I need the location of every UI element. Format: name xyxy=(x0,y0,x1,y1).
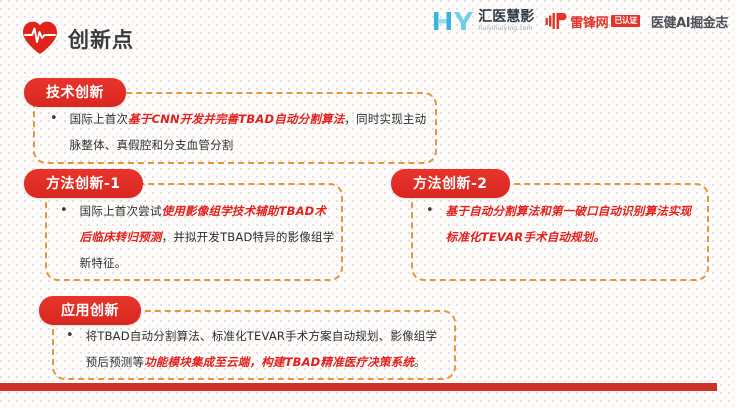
page-title: 创新点 xyxy=(68,24,134,54)
text-segment: 。 xyxy=(414,355,426,369)
logo-bar: 汇医慧影 huiyihuiying.com 雷锋网 已认证 医健AI掘金志 xyxy=(433,7,728,35)
hy-monogram-icon xyxy=(433,10,475,32)
hy-wordmark: 汇医慧影 huiyihuiying.com xyxy=(478,10,534,32)
logo-huiyihuiying: 汇医慧影 huiyihuiying.com xyxy=(433,10,534,32)
bullet-icon: • xyxy=(48,106,58,132)
hy-url: huiyihuiying.com xyxy=(478,26,534,32)
application-innovation-body: • 将TBAD自动分割算法、标准化TEVAR手术方案自动规划、影像组学预后预测等… xyxy=(64,323,448,375)
logo-yijian-ai: 医健AI掘金志 xyxy=(651,12,728,31)
bullet-icon: • xyxy=(64,323,74,349)
bullet-icon: • xyxy=(424,198,434,224)
leiphone-badge: 已认证 xyxy=(611,15,640,27)
method-innovation-2-body: • 基于自动分割算法和第一破口自动识别算法实现标准化TEVAR手术自动规划。 xyxy=(424,198,702,250)
tech-innovation-text: 国际上首次基于CNN开发并完善TBAD自动分割算法，同时实现主动脉整体、真假腔和… xyxy=(70,106,428,158)
footer-accent-bar xyxy=(0,383,717,391)
text-segment-emphasis: 基于CNN开发并完善TBAD自动分割算法 xyxy=(128,112,344,126)
text-segment-emphasis: 基于自动分割算法和第一破口自动识别算法实现标准化TEVAR手术自动规划。 xyxy=(446,204,692,244)
logo-leiphone: 雷锋网 已认证 xyxy=(545,12,640,31)
method-innovation-1-body: • 国际上首次尝试使用影像组学技术辅助TBAD术后临床转归预测，并拟开发TBAD… xyxy=(58,198,336,276)
tech-innovation-body: • 国际上首次基于CNN开发并完善TBAD自动分割算法，同时实现主动脉整体、真假… xyxy=(48,106,428,158)
tech-innovation-pill[interactable]: 技术创新 xyxy=(24,78,126,107)
application-innovation-pill[interactable]: 应用创新 xyxy=(39,296,141,325)
slide-header: 创新点 汇医慧影 huiyihuiying.com xyxy=(0,0,736,62)
text-segment: 国际上首次尝试 xyxy=(80,204,162,218)
leifeng-bars-icon xyxy=(545,12,567,30)
heart-ecg-icon xyxy=(21,20,59,56)
leiphone-name-cn: 雷锋网 xyxy=(570,12,608,31)
hy-name-cn: 汇医慧影 xyxy=(478,10,534,24)
method-innovation-1-text: 国际上首次尝试使用影像组学技术辅助TBAD术后临床转归预测，并拟开发TBAD特异… xyxy=(80,198,336,276)
text-segment: 国际上首次 xyxy=(70,112,129,126)
application-innovation-text: 将TBAD自动分割算法、标准化TEVAR手术方案自动规划、影像组学预后预测等功能… xyxy=(86,323,448,375)
bullet-icon: • xyxy=(58,198,68,224)
method-innovation-2-pill[interactable]: 方法创新-2 xyxy=(391,169,510,198)
method-innovation-1-pill[interactable]: 方法创新-1 xyxy=(24,169,143,198)
text-segment-emphasis: 功能模块集成至云端，构建TBAD精准医疗决策系统 xyxy=(144,355,414,369)
method-innovation-2-text: 基于自动分割算法和第一破口自动识别算法实现标准化TEVAR手术自动规划。 xyxy=(446,198,702,250)
